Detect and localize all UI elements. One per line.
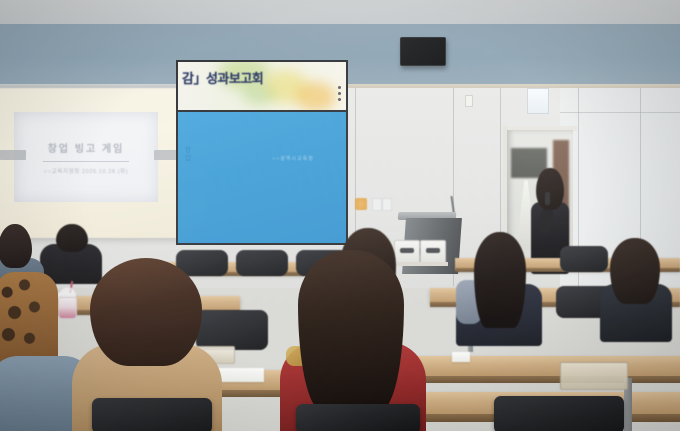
lecture-desk — [400, 356, 680, 378]
handheld-microphone-icon — [545, 192, 550, 205]
attendee-hair — [298, 250, 404, 410]
office-chair — [92, 398, 212, 431]
attendee-hair — [474, 232, 526, 328]
wall-notice-icon — [382, 198, 392, 211]
handout-right — [452, 352, 470, 362]
office-chair — [296, 404, 420, 431]
clear-plastic-container-icon — [560, 362, 628, 390]
banner-body — [178, 112, 346, 243]
banner-mount-dots — [338, 86, 342, 104]
office-chair — [494, 396, 624, 431]
ceiling-speaker-icon — [400, 37, 446, 66]
banner-vertical-text: 창업 — [182, 146, 192, 162]
wall-sticker-icon — [355, 198, 367, 210]
light-switch-icon[interactable] — [465, 95, 473, 107]
wall-control-panel-icon[interactable] — [527, 88, 549, 114]
attendee-hair — [90, 258, 202, 366]
attendee-hair — [0, 224, 32, 268]
attendee-navy-right — [456, 232, 542, 344]
attendee-hair — [610, 238, 660, 304]
slide-divider — [43, 161, 129, 162]
wall-notice-icon — [372, 198, 382, 211]
wall-seam — [560, 112, 680, 113]
slide-subtitle: ○○교육지원청 2025.10.28.(화) — [44, 167, 128, 175]
slide-content: 창업 빙고 게임 ○○교육지원청 2025.10.28.(화) — [14, 112, 158, 202]
attendee-hair — [56, 224, 88, 252]
screen-bracket-left — [0, 150, 26, 160]
desk-edge — [400, 376, 680, 383]
seminar-room-photo: 창업 빙고 게임 ○○교육지원청 2025.10.28.(화) 감」성과보고회 … — [0, 0, 680, 431]
attendee-far-right — [600, 238, 672, 338]
banner-header-text: 감」성과보고회 — [182, 68, 263, 87]
banner-body-text: ○○광역시교육청 — [238, 155, 348, 162]
presenter-hair — [536, 168, 564, 210]
slide-title: 창업 빙고 게임 — [48, 140, 125, 155]
